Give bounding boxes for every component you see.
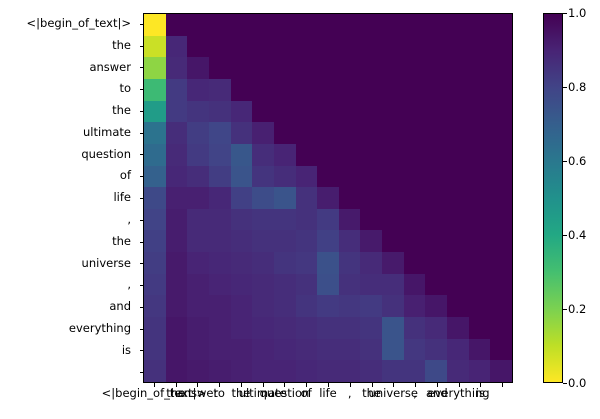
heatmap-cell [490,339,512,361]
heatmap-cell [404,122,426,144]
heatmap-cell [231,360,253,382]
colorbar-tick-mark [563,87,567,88]
heatmap-cell [382,295,404,317]
heatmap-cell [187,230,209,252]
heatmap-cell [490,122,512,144]
heatmap-cell [187,295,209,317]
x-tick-mark [176,383,177,387]
heatmap-cell [382,187,404,209]
heatmap-cell [209,187,231,209]
heatmap-cell [360,230,382,252]
heatmap-cell [252,252,274,274]
heatmap-cell [447,101,469,123]
heatmap-cell [339,166,361,188]
x-tick-label: to [213,386,225,401]
heatmap-cell [469,274,491,296]
y-axis-tick-labels: <|begin_of_text|>theanswertotheultimateq… [0,13,135,383]
y-tick-label: the [0,35,135,57]
heatmap-cell [209,57,231,79]
heatmap-cell [404,166,426,188]
x-axis-tick-labels: <|begin_of_text|>theanswertotheultimateq… [143,386,513,406]
colorbar-gradient [544,14,562,382]
heatmap-cell [469,360,491,382]
heatmap-cell [339,360,361,382]
y-tick-mark [140,198,144,199]
heatmap-cell [404,144,426,166]
heatmap-cell [144,166,166,188]
y-tick-label: question [0,144,135,166]
y-tick-mark [140,89,144,90]
x-tick-mark [154,383,155,387]
heatmap-cell [231,295,253,317]
heatmap-cell [274,79,296,101]
heatmap-cell [187,57,209,79]
heatmap-cell [490,274,512,296]
heatmap-cell [209,230,231,252]
heatmap-cell [274,230,296,252]
heatmap-cell [360,317,382,339]
heatmap-cell [360,101,382,123]
heatmap-cell [144,79,166,101]
x-tick-mark [437,383,438,387]
heatmap-cell [469,295,491,317]
heatmap-cell [144,360,166,382]
heatmap-cell [317,101,339,123]
heatmap-cell [382,57,404,79]
heatmap-cell [274,36,296,58]
heatmap-cell [339,339,361,361]
heatmap-cell [144,230,166,252]
heatmap-cell [274,252,296,274]
heatmap-cell [404,209,426,231]
heatmap-cell [166,57,188,79]
heatmap-cell [317,57,339,79]
heatmap-cell [447,57,469,79]
heatmap-cell [166,317,188,339]
y-tick-label: is [0,339,135,361]
y-tick-label: ultimate [0,122,135,144]
heatmap-cell [274,209,296,231]
heatmap-cell [425,36,447,58]
heatmap-cell [296,209,318,231]
x-tick-mark [480,383,481,387]
heatmap-cell [166,230,188,252]
colorbar [543,13,563,383]
heatmap-cell [166,339,188,361]
x-tick-mark [197,383,198,387]
heatmap-cell [296,339,318,361]
heatmap-cell [360,57,382,79]
colorbar-tick-label: 1.0 [568,6,586,20]
x-tick-label: life [319,386,337,401]
heatmap-cell [296,317,318,339]
heatmap-cell [231,36,253,58]
heatmap-cell [231,122,253,144]
x-tick-label: , [348,386,352,401]
heatmap-cell [469,230,491,252]
heatmap-cell [447,317,469,339]
heatmap-cell [404,79,426,101]
heatmap-cell [469,317,491,339]
heatmap-cell [490,14,512,36]
heatmap-cell [469,144,491,166]
heatmap-cell [231,144,253,166]
heatmap-cell [490,295,512,317]
heatmap-cell [231,230,253,252]
colorbar-tick-mark [563,235,567,236]
heatmap-cell [447,339,469,361]
heatmap-cell [382,144,404,166]
heatmap-cell [209,144,231,166]
heatmap-cell [166,101,188,123]
heatmap-cell [274,101,296,123]
heatmap-cell [187,14,209,36]
heatmap-cell [425,144,447,166]
heatmap-cell [274,360,296,382]
heatmap-cell [360,79,382,101]
heatmap-cell [339,317,361,339]
heatmap-cell [425,166,447,188]
heatmap-cell [447,36,469,58]
heatmap-cell [187,252,209,274]
heatmap-cell [425,209,447,231]
heatmap-cell [360,295,382,317]
heatmap-cell [317,14,339,36]
heatmap-cell [339,144,361,166]
heatmap-cell [252,209,274,231]
x-tick-mark [459,383,460,387]
heatmap-cell [404,230,426,252]
heatmap-cell [339,79,361,101]
heatmap-cell [339,274,361,296]
heatmap-cell [166,274,188,296]
heatmap-cell [317,79,339,101]
heatmap-cell [339,187,361,209]
heatmap-cell [382,122,404,144]
colorbar-tick-mark [563,161,567,162]
heatmap-cell [382,360,404,382]
heatmap-cell [447,209,469,231]
heatmap-axes[interactable] [143,13,513,383]
heatmap-cell [296,144,318,166]
heatmap-cell [382,36,404,58]
heatmap-cell [360,166,382,188]
heatmap-cell [469,122,491,144]
heatmap-cell [360,144,382,166]
heatmap-cell [404,36,426,58]
heatmap-cell [187,187,209,209]
heatmap-cell [339,252,361,274]
heatmap-cell [382,339,404,361]
heatmap-cell [447,14,469,36]
heatmap-cell [144,122,166,144]
heatmap-cell [404,295,426,317]
x-tick-mark [502,383,503,387]
heatmap-cell [187,339,209,361]
heatmap-cell [317,274,339,296]
heatmap-cell [209,209,231,231]
heatmap-cell [209,14,231,36]
heatmap-cell [166,187,188,209]
heatmap-cell [382,230,404,252]
x-tick-label: answer [177,386,219,401]
heatmap-cell [231,339,253,361]
x-tick-mark [306,383,307,387]
heatmap-cell [231,101,253,123]
heatmap-cell [425,252,447,274]
y-tick-label: and [0,296,135,318]
heatmap-cell [252,14,274,36]
y-tick-mark [140,329,144,330]
heatmap-cell [166,79,188,101]
heatmap-cell [209,360,231,382]
heatmap-cell [360,274,382,296]
heatmap-cell [425,339,447,361]
heatmap-cell [382,252,404,274]
y-tick-mark [140,133,144,134]
heatmap-cell [404,317,426,339]
heatmap-cell [296,79,318,101]
y-tick-mark [140,46,144,47]
heatmap-cell [296,57,318,79]
heatmap-cell [274,295,296,317]
heatmap-cell [317,339,339,361]
heatmap-cell [296,14,318,36]
y-tick-mark [140,372,144,373]
heatmap-cell [490,209,512,231]
heatmap-cell [144,57,166,79]
heatmap-cell [296,166,318,188]
heatmap-cell [404,57,426,79]
heatmap-cell [490,57,512,79]
heatmap-cell [317,166,339,188]
heatmap-cell [166,295,188,317]
heatmap-cell [447,144,469,166]
heatmap-cell [382,14,404,36]
heatmap-cell [296,295,318,317]
heatmap-cell [231,317,253,339]
heatmap-cell [296,187,318,209]
y-tick-label: universe [0,252,135,274]
heatmap-cell [209,122,231,144]
heatmap-cell [187,101,209,123]
heatmap-cell [447,79,469,101]
heatmap-cell [166,36,188,58]
x-tick-label: universe [369,386,418,401]
heatmap-cell [209,36,231,58]
heatmap-cell [382,79,404,101]
heatmap-cell [360,36,382,58]
heatmap-cell [144,14,166,36]
heatmap-cell [166,122,188,144]
heatmap-cell [317,187,339,209]
heatmap-cell [404,14,426,36]
heatmap-cell [166,209,188,231]
heatmap-cell [231,274,253,296]
heatmap-cell [144,317,166,339]
heatmap-cell [339,209,361,231]
y-tick-label: everything [0,318,135,340]
y-tick-mark [140,220,144,221]
colorbar-tick-label: 0.0 [568,376,586,390]
heatmap-cell [187,360,209,382]
y-tick-label: life [0,187,135,209]
heatmap-cell [360,14,382,36]
x-tick-label: is [476,386,485,401]
heatmap-cell [231,187,253,209]
heatmap-cell [425,101,447,123]
heatmap-cell [360,339,382,361]
heatmap-cell [447,252,469,274]
heatmap-cell [252,317,274,339]
heatmap-cell [166,360,188,382]
y-tick-label: , [0,209,135,231]
heatmap-cell [252,57,274,79]
heatmap-cell [274,187,296,209]
y-tick-mark [140,242,144,243]
heatmap-cell [144,274,166,296]
y-tick-mark [140,263,144,264]
heatmap-cell [382,317,404,339]
heatmap-cell [209,252,231,274]
heatmap-cell [469,79,491,101]
heatmap-cell [144,36,166,58]
y-tick-label: the [0,231,135,253]
heatmap-cell [231,252,253,274]
heatmap-cell [144,295,166,317]
heatmap-cell [252,360,274,382]
colorbar-tick-mark [563,309,567,310]
heatmap-cell [274,144,296,166]
heatmap-cell [469,14,491,36]
heatmap-cell [339,36,361,58]
heatmap-cell [144,252,166,274]
heatmap-cell [447,295,469,317]
heatmap-cell [209,79,231,101]
heatmap-cell [317,209,339,231]
heatmap-cell [252,274,274,296]
heatmap-cell [469,166,491,188]
heatmap-cell [187,209,209,231]
heatmap-cell [469,339,491,361]
heatmap-cell [490,230,512,252]
heatmap-cell [209,317,231,339]
y-tick-label: answer [0,57,135,79]
heatmap-cell [447,230,469,252]
heatmap-cell [252,187,274,209]
heatmap-cell [425,295,447,317]
heatmap-cell [382,101,404,123]
heatmap-cell [252,166,274,188]
heatmap-cell [231,166,253,188]
colorbar-tick-mark [563,13,567,14]
heatmap-cell [469,209,491,231]
colorbar-tick-label: 0.4 [568,228,586,242]
heatmap-cell [469,57,491,79]
y-tick-mark [140,154,144,155]
heatmap-cell [231,57,253,79]
heatmap-cell [404,101,426,123]
heatmap-cell [490,101,512,123]
heatmap-cell [274,14,296,36]
heatmap-cell [166,252,188,274]
heatmap-cell [425,57,447,79]
heatmap-cell [425,14,447,36]
y-tick-mark [140,111,144,112]
heatmap-cell [144,209,166,231]
colorbar-tick-label: 0.8 [568,80,586,94]
heatmap-cell [339,230,361,252]
x-tick-mark [328,383,329,387]
heatmap-cell [317,252,339,274]
y-tick-label: to [0,78,135,100]
heatmap-cell [296,274,318,296]
heatmap-cell [425,360,447,382]
heatmap-cell [360,252,382,274]
heatmap-cell [252,101,274,123]
heatmap-cell [274,274,296,296]
heatmap-cell [252,295,274,317]
heatmap-cell [382,166,404,188]
heatmap-cell [382,209,404,231]
heatmap-cell [209,295,231,317]
heatmap-cell [339,122,361,144]
y-tick-mark [140,350,144,351]
heatmap-cell [339,101,361,123]
heatmap-grid [144,14,512,382]
heatmap-cell [252,144,274,166]
heatmap-cell [166,144,188,166]
heatmap-cell [425,230,447,252]
heatmap-cell [252,122,274,144]
heatmap-cell [425,274,447,296]
colorbar-tick-label: 0.2 [568,302,586,316]
x-tick-label: of [301,386,312,401]
y-tick-label: , [0,274,135,296]
x-tick-mark [350,383,351,387]
heatmap-cell [274,317,296,339]
heatmap-cell [447,274,469,296]
heatmap-cell [252,79,274,101]
y-tick-label: <|begin_of_text|> [0,13,135,35]
heatmap-cell [404,252,426,274]
heatmap-cell [274,166,296,188]
heatmap-cell [274,57,296,79]
x-tick-mark [219,383,220,387]
heatmap-cell [490,317,512,339]
heatmap-cell [317,295,339,317]
y-tick-label: the [0,100,135,122]
heatmap-cell [360,122,382,144]
y-tick-mark [140,307,144,308]
heatmap-cell [274,122,296,144]
heatmap-cell [360,360,382,382]
heatmap-cell [447,166,469,188]
heatmap-cell [209,101,231,123]
heatmap-cell [166,14,188,36]
heatmap-cell [425,122,447,144]
heatmap-cell [404,274,426,296]
heatmap-cell [144,144,166,166]
heatmap-cell [209,339,231,361]
heatmap-cell [252,36,274,58]
x-tick-label: , [413,386,417,401]
x-tick-mark [284,383,285,387]
x-tick-mark [263,383,264,387]
heatmap-cell [490,187,512,209]
heatmap-cell [317,317,339,339]
heatmap-cell [469,101,491,123]
